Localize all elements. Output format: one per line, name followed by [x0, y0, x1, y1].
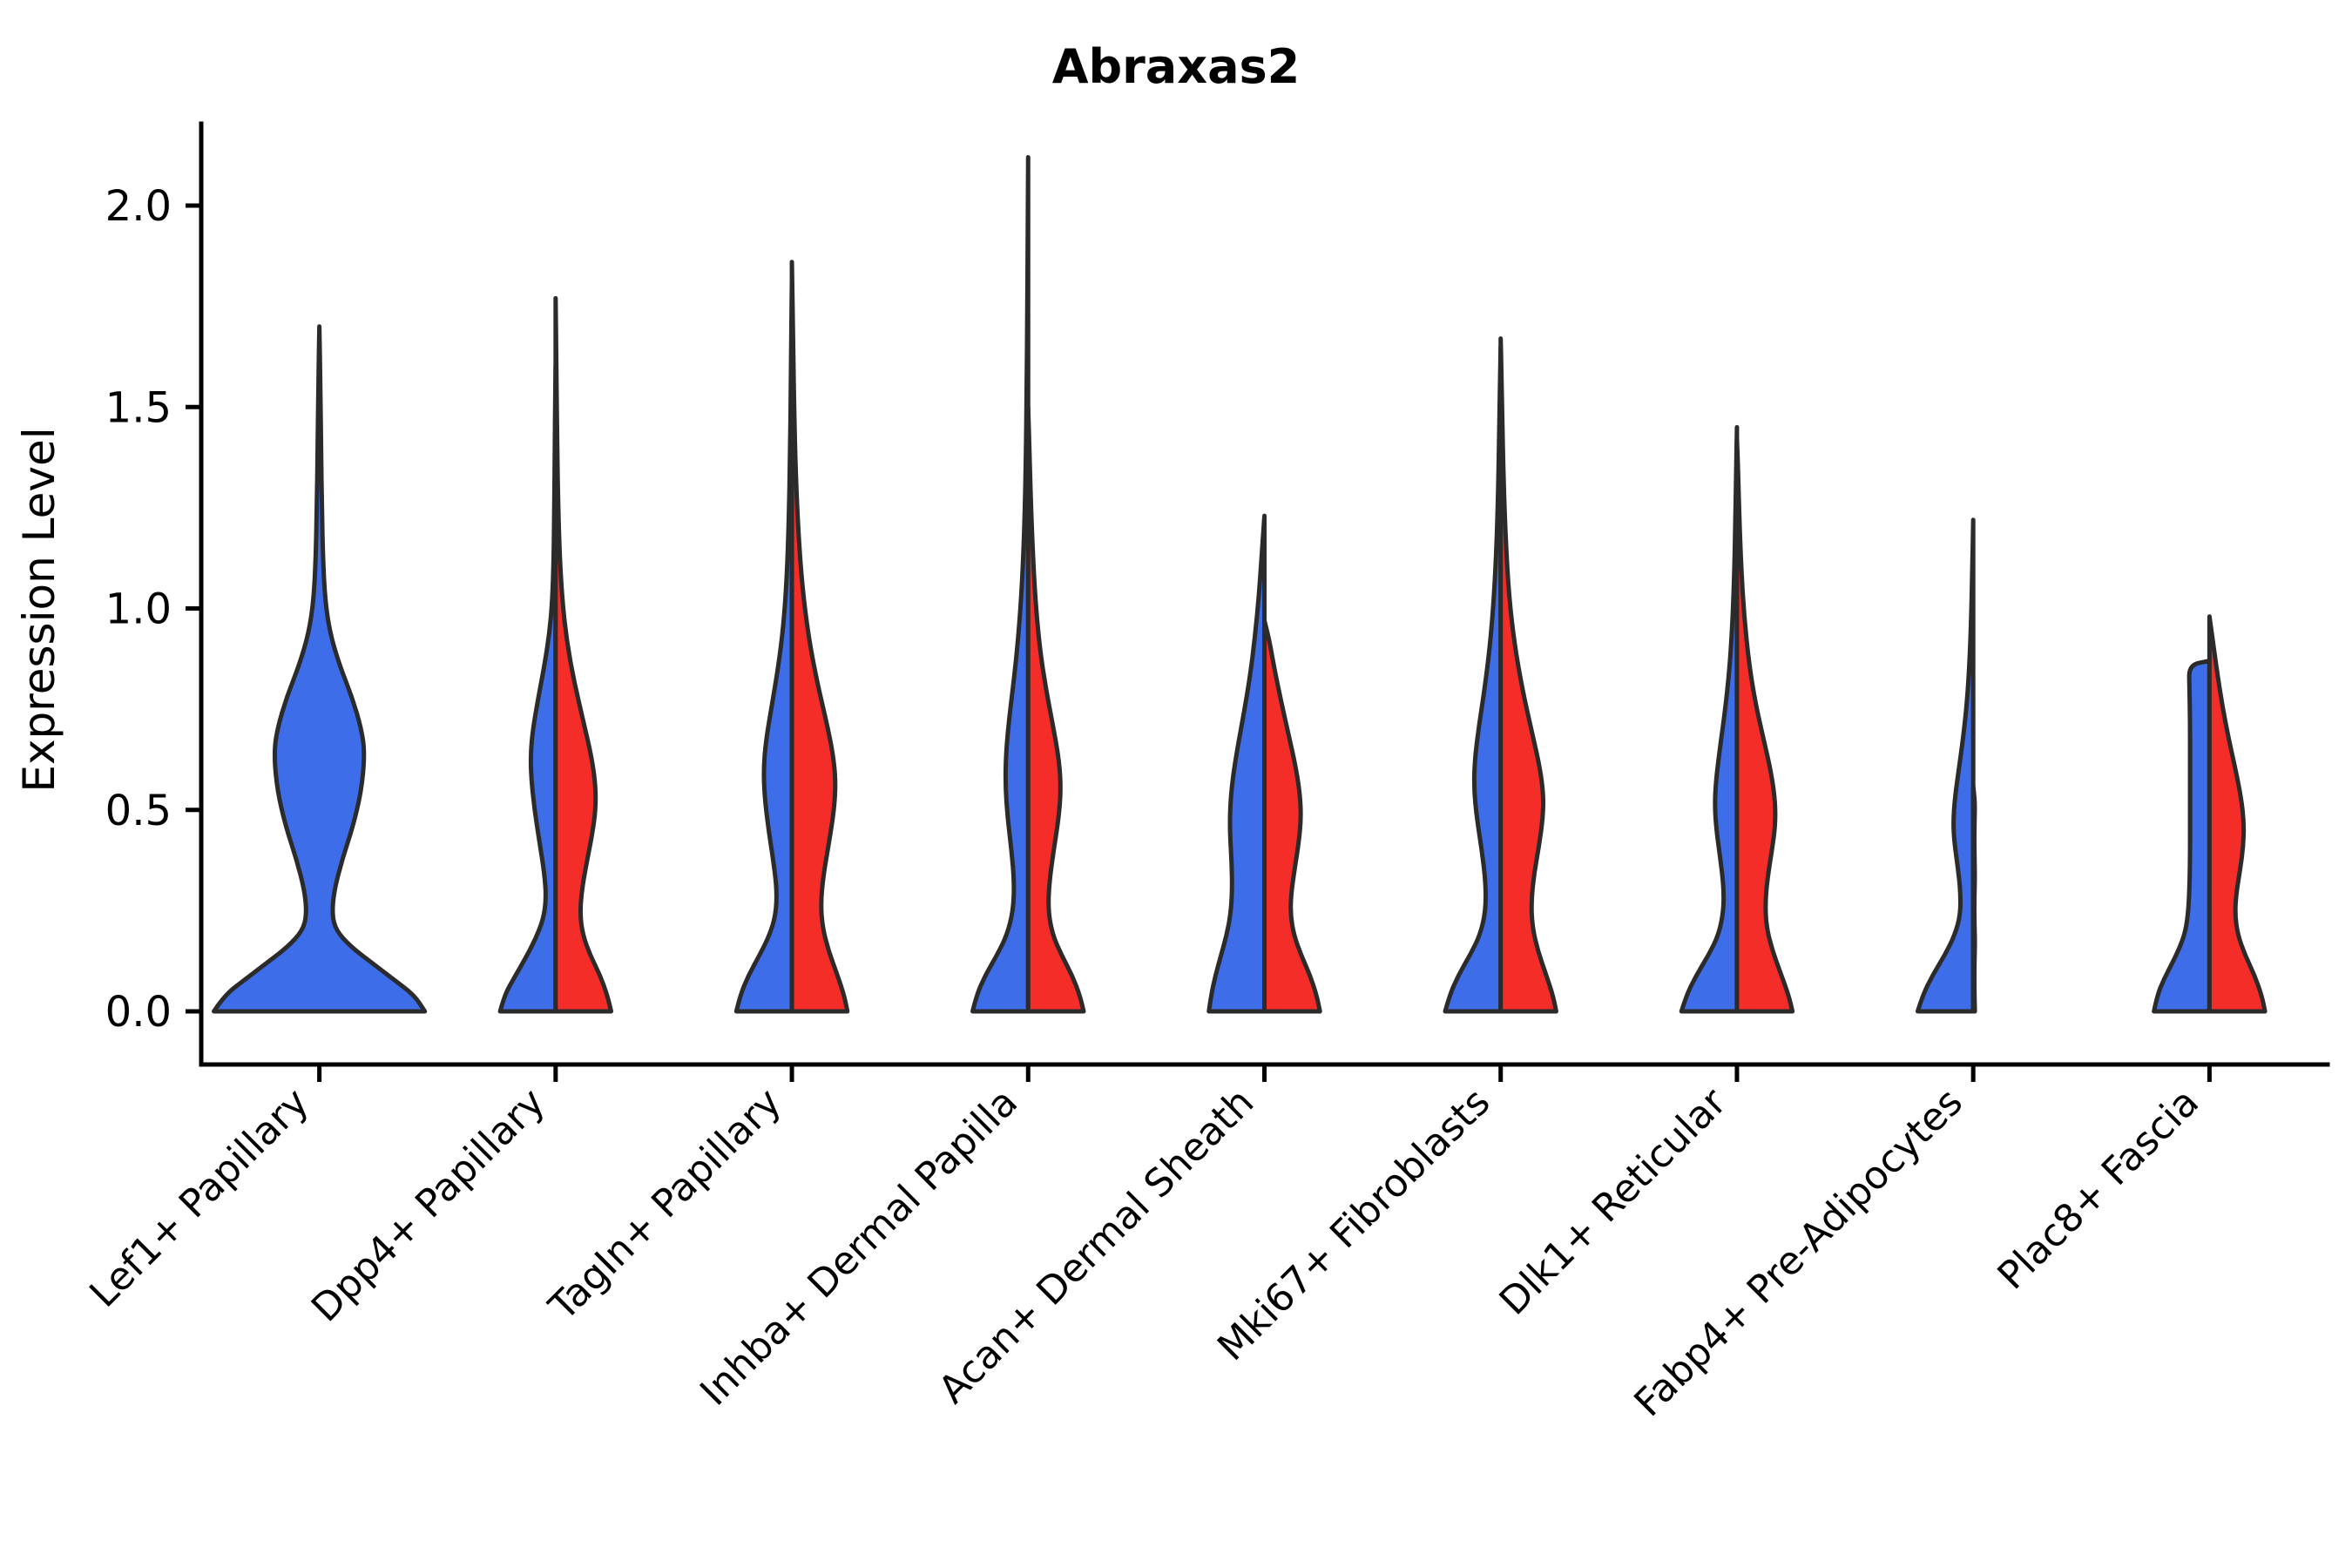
y-axis-label: Expression Level	[14, 427, 64, 792]
x-tick-label: Plac8+ Fascia	[1990, 1080, 2208, 1299]
page-title: Abraxas2	[1052, 39, 1301, 94]
violin-shape-red	[1501, 339, 1557, 1011]
x-tick-group: Lef1+ PapillaryDpp4+ PapillaryTagIn+ Pap…	[81, 1064, 2209, 1425]
violin-shape-blue	[1445, 347, 1501, 1011]
violin-plot-figure: Abraxas2 Expression Level 0.00.51.01.52.…	[0, 0, 2352, 1568]
violin-shape-blue	[214, 327, 425, 1011]
violin-shape-blue	[1209, 516, 1265, 1011]
y-tick-label: 0.5	[105, 787, 172, 835]
y-tick-label: 2.0	[105, 182, 172, 231]
violin-group	[214, 158, 2266, 1012]
y-tick-group: 0.00.51.01.52.0	[105, 182, 201, 1037]
violin-shape-blue	[2154, 661, 2210, 1011]
violin-shape-blue	[500, 367, 556, 1011]
plot-canvas: Abraxas2 Expression Level 0.00.51.01.52.…	[0, 0, 2352, 1568]
violin-shape-red	[2209, 617, 2265, 1011]
y-tick-label: 1.0	[105, 585, 172, 634]
violin-shape-red	[1973, 786, 1975, 1011]
violin-shape-blue	[973, 158, 1029, 1012]
violin-shape-red	[1737, 439, 1793, 1011]
violin-shape-red	[1028, 407, 1084, 1011]
x-tick-label: TagIn+ Papillary	[540, 1080, 790, 1330]
violin-shape-red	[556, 298, 612, 1011]
violin-shape-red	[1265, 620, 1321, 1011]
x-tick-label: Dlk1+ Reticular	[1491, 1079, 1736, 1324]
violin-shape-blue	[1681, 427, 1737, 1011]
y-tick-label: 0.0	[105, 988, 172, 1037]
x-tick-label: Lef1+ Papillary	[81, 1080, 317, 1316]
violin-shape-red	[792, 262, 848, 1011]
y-tick-label: 1.5	[105, 383, 172, 432]
x-tick-label: Mki67+ Fibroblasts	[1209, 1080, 1498, 1369]
violin-shape-blue	[1917, 520, 1973, 1011]
x-tick-label: Dpp4+ Papillary	[303, 1080, 554, 1331]
violin-shape-blue	[736, 282, 792, 1011]
